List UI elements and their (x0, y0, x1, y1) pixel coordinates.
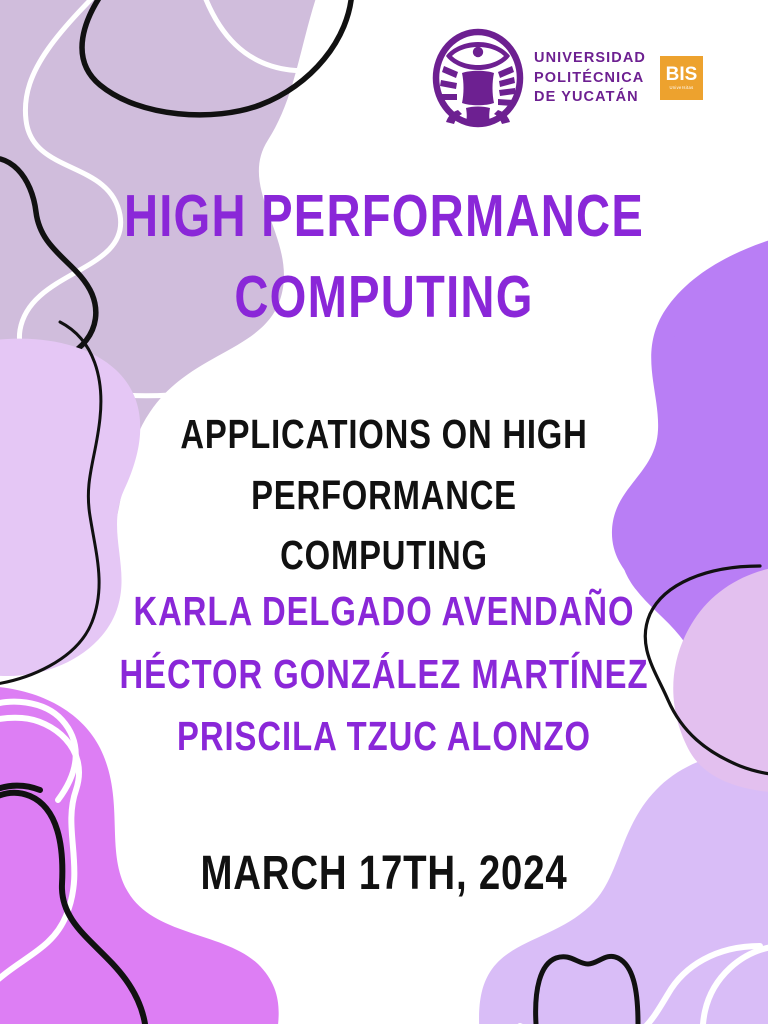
date-text: MARCH 17TH, 2024 (77, 845, 691, 903)
author-name-3: PRISCILA TZUC ALONZO (77, 705, 691, 768)
university-line-1: UNIVERSIDAD (534, 50, 646, 67)
author-name-2: HÉCTOR GONZÁLEZ MARTÍNEZ (77, 643, 691, 706)
bis-label: BIS (666, 65, 698, 84)
page-subtitle: APPLICATIONS ON HIGH PERFORMANCE COMPUTI… (0, 404, 768, 586)
poster-canvas: UNIVERSIDAD POLITÉCNICA DE YUCATÁN BIS U… (0, 0, 768, 1024)
title-line-2: COMPUTING (77, 257, 691, 338)
university-line-2: POLITÉCNICA (534, 70, 646, 87)
subtitle-line-1: APPLICATIONS ON HIGH PERFORMANCE (77, 404, 691, 525)
university-logo-block: UNIVERSIDAD POLITÉCNICA DE YUCATÁN BIS U… (432, 28, 703, 128)
bis-sublabel: Universitas (669, 86, 693, 90)
university-name: UNIVERSIDAD POLITÉCNICA DE YUCATÁN (534, 50, 646, 106)
author-name-1: KARLA DELGADO AVENDAÑO (77, 580, 691, 643)
page-title: HIGH PERFORMANCE COMPUTING (0, 176, 768, 339)
university-line-3: DE YUCATÁN (534, 89, 646, 106)
subtitle-line-2: COMPUTING (77, 525, 691, 586)
title-line-1: HIGH PERFORMANCE (77, 176, 691, 257)
bis-universitas-badge: BIS Universitas (660, 56, 703, 100)
event-date: MARCH 17TH, 2024 (0, 845, 768, 903)
upy-eye-emblem-icon (432, 28, 524, 128)
author-list: KARLA DELGADO AVENDAÑO HÉCTOR GONZÁLEZ M… (0, 580, 768, 768)
